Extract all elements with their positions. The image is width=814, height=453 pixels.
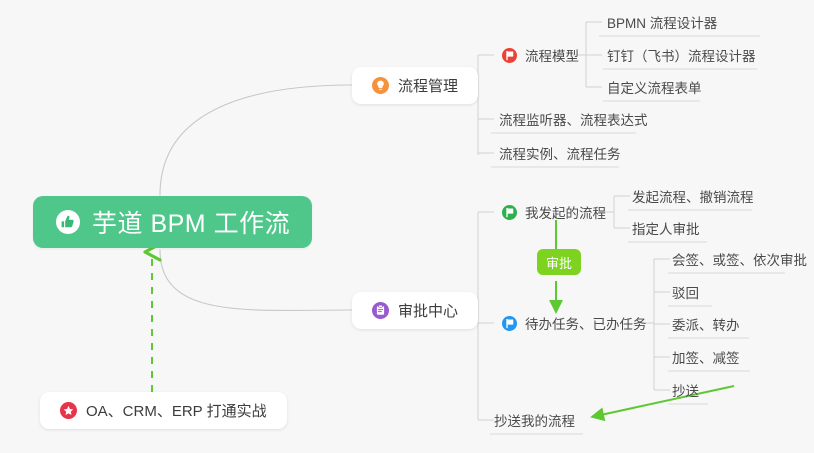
node-start-cancel[interactable]: 发起流程、撤销流程	[624, 182, 762, 210]
node-label: BPMN 流程设计器	[607, 12, 717, 32]
lightbulb-icon	[372, 77, 389, 94]
node-label: 我发起的流程	[525, 202, 606, 222]
node-todo-done[interactable]: 待办任务、已办任务	[494, 309, 655, 337]
node-label: 流程实例、流程任务	[499, 143, 621, 163]
clipboard-icon	[372, 302, 389, 319]
node-label: 发起流程、撤销流程	[632, 186, 754, 206]
node-label: 抄送	[672, 380, 699, 400]
approval-tag-label: 审批	[546, 253, 572, 272]
node-label: 待办任务、已办任务	[525, 313, 647, 333]
node-label: 流程监听器、流程表达式	[499, 109, 648, 129]
node-delegate-transfer[interactable]: 委派、转办	[664, 310, 748, 338]
branch-label: 流程管理	[398, 75, 458, 96]
node-add-remove-sign[interactable]: 加签、减签	[664, 343, 748, 371]
node-bpmn-designer[interactable]: BPMN 流程设计器	[599, 8, 725, 36]
node-custom-form[interactable]: 自定义流程表单	[599, 73, 710, 101]
node-cc-to-me[interactable]: 抄送我的流程	[486, 406, 583, 434]
node-reject[interactable]: 驳回	[664, 278, 707, 306]
node-label: 加签、减签	[672, 347, 740, 367]
node-label: 驳回	[672, 282, 699, 302]
branch-process-management[interactable]: 流程管理	[352, 67, 478, 104]
node-label: 自定义流程表单	[607, 77, 702, 97]
node-label: 流程模型	[525, 45, 579, 65]
branch-label: 审批中心	[398, 300, 458, 321]
node-label: 指定人审批	[632, 218, 700, 238]
star-icon	[60, 402, 77, 419]
node-label: 会签、或签、依次审批	[672, 249, 807, 269]
thumbs-up-icon	[55, 209, 81, 235]
node-cc[interactable]: 抄送	[664, 376, 707, 404]
node-countersign[interactable]: 会签、或签、依次审批	[664, 245, 814, 273]
node-process-model[interactable]: 流程模型	[494, 41, 587, 69]
node-instance-task[interactable]: 流程实例、流程任务	[491, 139, 629, 167]
flag-icon	[502, 205, 517, 220]
branch-approval-center[interactable]: 审批中心	[352, 292, 478, 329]
flag-icon	[502, 48, 517, 63]
node-my-initiated[interactable]: 我发起的流程	[494, 198, 614, 226]
node-dingtalk-designer[interactable]: 钉钉（飞书）流程设计器	[599, 41, 764, 69]
node-assignee-approval[interactable]: 指定人审批	[624, 214, 708, 242]
root-node[interactable]: 芋道 BPM 工作流	[33, 196, 312, 248]
node-label: 抄送我的流程	[494, 410, 575, 430]
root-label: 芋道 BPM 工作流	[92, 204, 290, 240]
footnote-node[interactable]: OA、CRM、ERP 打通实战	[40, 392, 287, 429]
approval-tag[interactable]: 审批	[537, 249, 581, 275]
node-listener-expression[interactable]: 流程监听器、流程表达式	[491, 105, 656, 133]
footnote-label: OA、CRM、ERP 打通实战	[86, 400, 267, 421]
flag-icon	[502, 316, 517, 331]
mindmap-canvas: 芋道 BPM 工作流 流程管理 流程模型 BPMN 流程设计器 钉钉（飞书）流程…	[0, 0, 814, 453]
node-label: 委派、转办	[672, 314, 740, 334]
node-label: 钉钉（飞书）流程设计器	[607, 45, 756, 65]
